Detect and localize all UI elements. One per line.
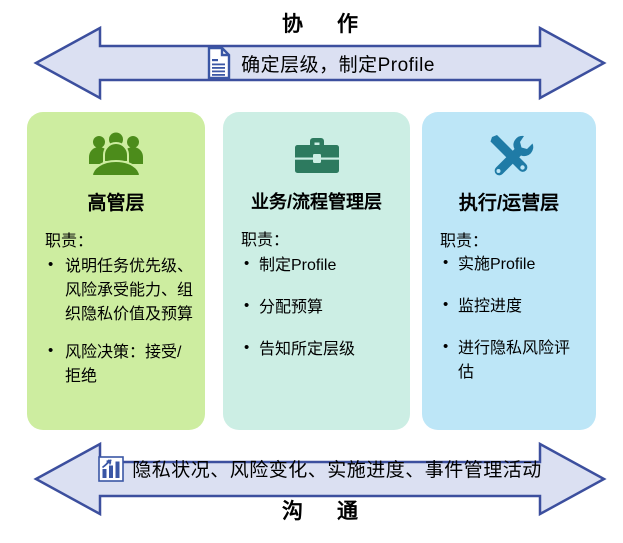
card-title-management: 业务/流程管理层: [251, 188, 382, 214]
responsibility-label-management: 职责：: [241, 226, 398, 250]
card-title-operations: 执行/运营层: [459, 188, 559, 215]
bullet-item: 说明任务优先级、风险承受能力、组织隐私价值及预算: [45, 255, 193, 327]
briefcase-icon: [292, 133, 342, 177]
responsibility-label-operations: 职责：: [440, 227, 584, 251]
briefcase-icon-wrap: [292, 126, 342, 184]
bullet-item: 告知所定层级: [241, 338, 398, 362]
bullet-list-executive: 说明任务优先级、风险承受能力、组织隐私价值及预算 风险决策：接受/拒绝: [45, 255, 193, 389]
bullet-item: 制定Profile: [241, 254, 398, 278]
tools-icon: [483, 131, 535, 179]
bullet-item: 实施Profile: [440, 253, 584, 277]
collaboration-text: 确定层级，制定Profile: [241, 50, 435, 77]
card-business-process-layer[interactable]: 业务/流程管理层 职责： 制定Profile 分配预算 告知所定层级: [223, 112, 410, 430]
bullet-item: 进行隐私风险评估: [440, 337, 584, 385]
communication-text: 隐私状况、风险变化、实施进度、事件管理活动: [132, 455, 542, 482]
collaboration-content: 确定层级，制定Profile: [30, 46, 610, 80]
communication-banner: 隐私状况、风险变化、实施进度、事件管理活动 沟通: [30, 437, 610, 537]
communication-caption: 沟通: [30, 495, 610, 525]
bar-chart-icon: [98, 456, 124, 482]
tools-icon-wrap: [483, 126, 535, 184]
card-execution-operations-layer[interactable]: 执行/运营层 职责： 实施Profile 监控进度 进行隐私风险评估: [422, 112, 596, 430]
document-icon: [205, 46, 233, 80]
card-title-executive: 高管层: [87, 188, 144, 215]
collaboration-banner: 协作 确定层级，制定Profile: [30, 8, 610, 103]
card-executive-layer[interactable]: 高管层 职责： 说明任务优先级、风险承受能力、组织隐私价值及预算 风险决策：接受…: [27, 112, 205, 430]
people-group-icon-wrap: [87, 126, 145, 184]
communication-content: 隐私状况、风险变化、实施进度、事件管理活动: [30, 455, 610, 482]
responsibility-label-executive: 职责：: [45, 227, 193, 251]
bullet-item: 监控进度: [440, 295, 584, 319]
bullet-list-operations: 实施Profile 监控进度 进行隐私风险评估: [440, 253, 584, 385]
card-body-management: 职责： 制定Profile 分配预算 告知所定层级: [235, 226, 398, 380]
layer-cards: 高管层 职责： 说明任务优先级、风险承受能力、组织隐私价值及预算 风险决策：接受…: [0, 112, 623, 430]
card-body-operations: 职责： 实施Profile 监控进度 进行隐私风险评估: [434, 227, 584, 403]
collaboration-caption: 协作: [30, 8, 610, 38]
people-group-icon: [87, 132, 145, 178]
bullet-list-management: 制定Profile 分配预算 告知所定层级: [241, 254, 398, 362]
bullet-item: 风险决策：接受/拒绝: [45, 341, 193, 389]
card-body-executive: 职责： 说明任务优先级、风险承受能力、组织隐私价值及预算 风险决策：接受/拒绝: [39, 227, 193, 403]
diagram-canvas: 协作 确定层级，制定Profile: [0, 0, 623, 543]
bullet-item: 分配预算: [241, 296, 398, 320]
